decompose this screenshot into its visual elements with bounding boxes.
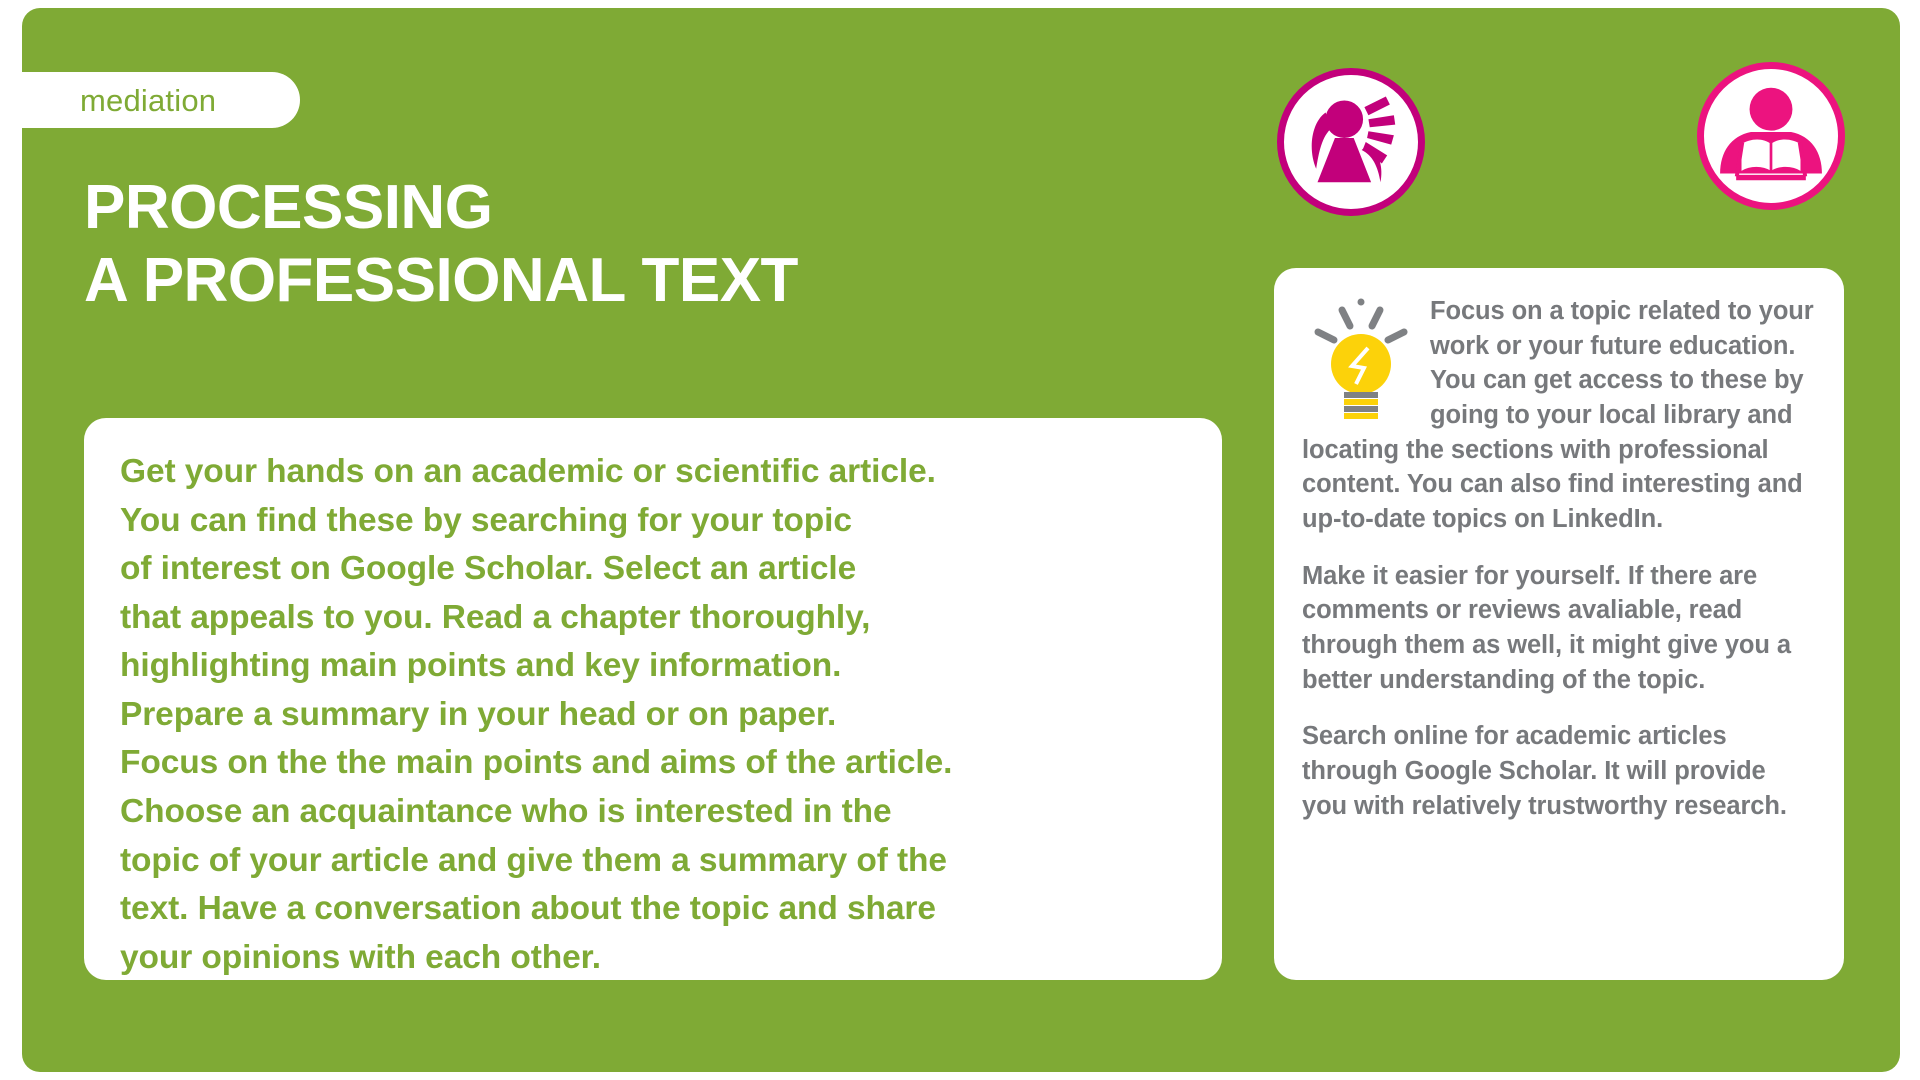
instruction-line: Choose an acquaintance who is interested… [120,788,1188,837]
reading-person-icon [1697,62,1845,210]
category-tag-label: mediation [80,85,216,116]
tip-paragraph: Make it easier for yourself. If there ar… [1302,559,1814,698]
tips-card: Focus on a topic related to your work or… [1274,268,1844,980]
category-tag-mediation: mediation [0,72,300,128]
page-title: PROCESSING A PROFESSIONAL TEXT [84,172,1184,317]
slide-root: mediation PROCESSING A PROFESSIONAL TEXT [0,0,1920,1080]
instruction-line: that appeals to you. Read a chapter thor… [120,594,1188,643]
instruction-line: highlighting main points and key informa… [120,642,1188,691]
instruction-line: You can find these by searching for your… [120,497,1188,546]
instruction-line: your opinions with each other. [120,934,1188,983]
instruction-line: Prepare a summary in your head or on pap… [120,691,1188,740]
instruction-line: text. Have a conversation about the topi… [120,885,1188,934]
instruction-line: Focus on the the main points and aims of… [120,739,1188,788]
title-line-1: PROCESSING [84,172,1184,245]
instruction-line: Get your hands on an academic or scienti… [120,448,1188,497]
speaking-person-icon [1277,68,1425,216]
main-instructions-card: Get your hands on an academic or scienti… [84,418,1222,980]
lightbulb-icon [1302,296,1420,428]
instruction-line: topic of your article and give them a su… [120,837,1188,886]
instruction-line: of interest on Google Scholar. Select an… [120,545,1188,594]
tip-paragraph: Search online for academic articles thro… [1302,719,1814,823]
title-line-2: A PROFESSIONAL TEXT [84,245,1184,318]
